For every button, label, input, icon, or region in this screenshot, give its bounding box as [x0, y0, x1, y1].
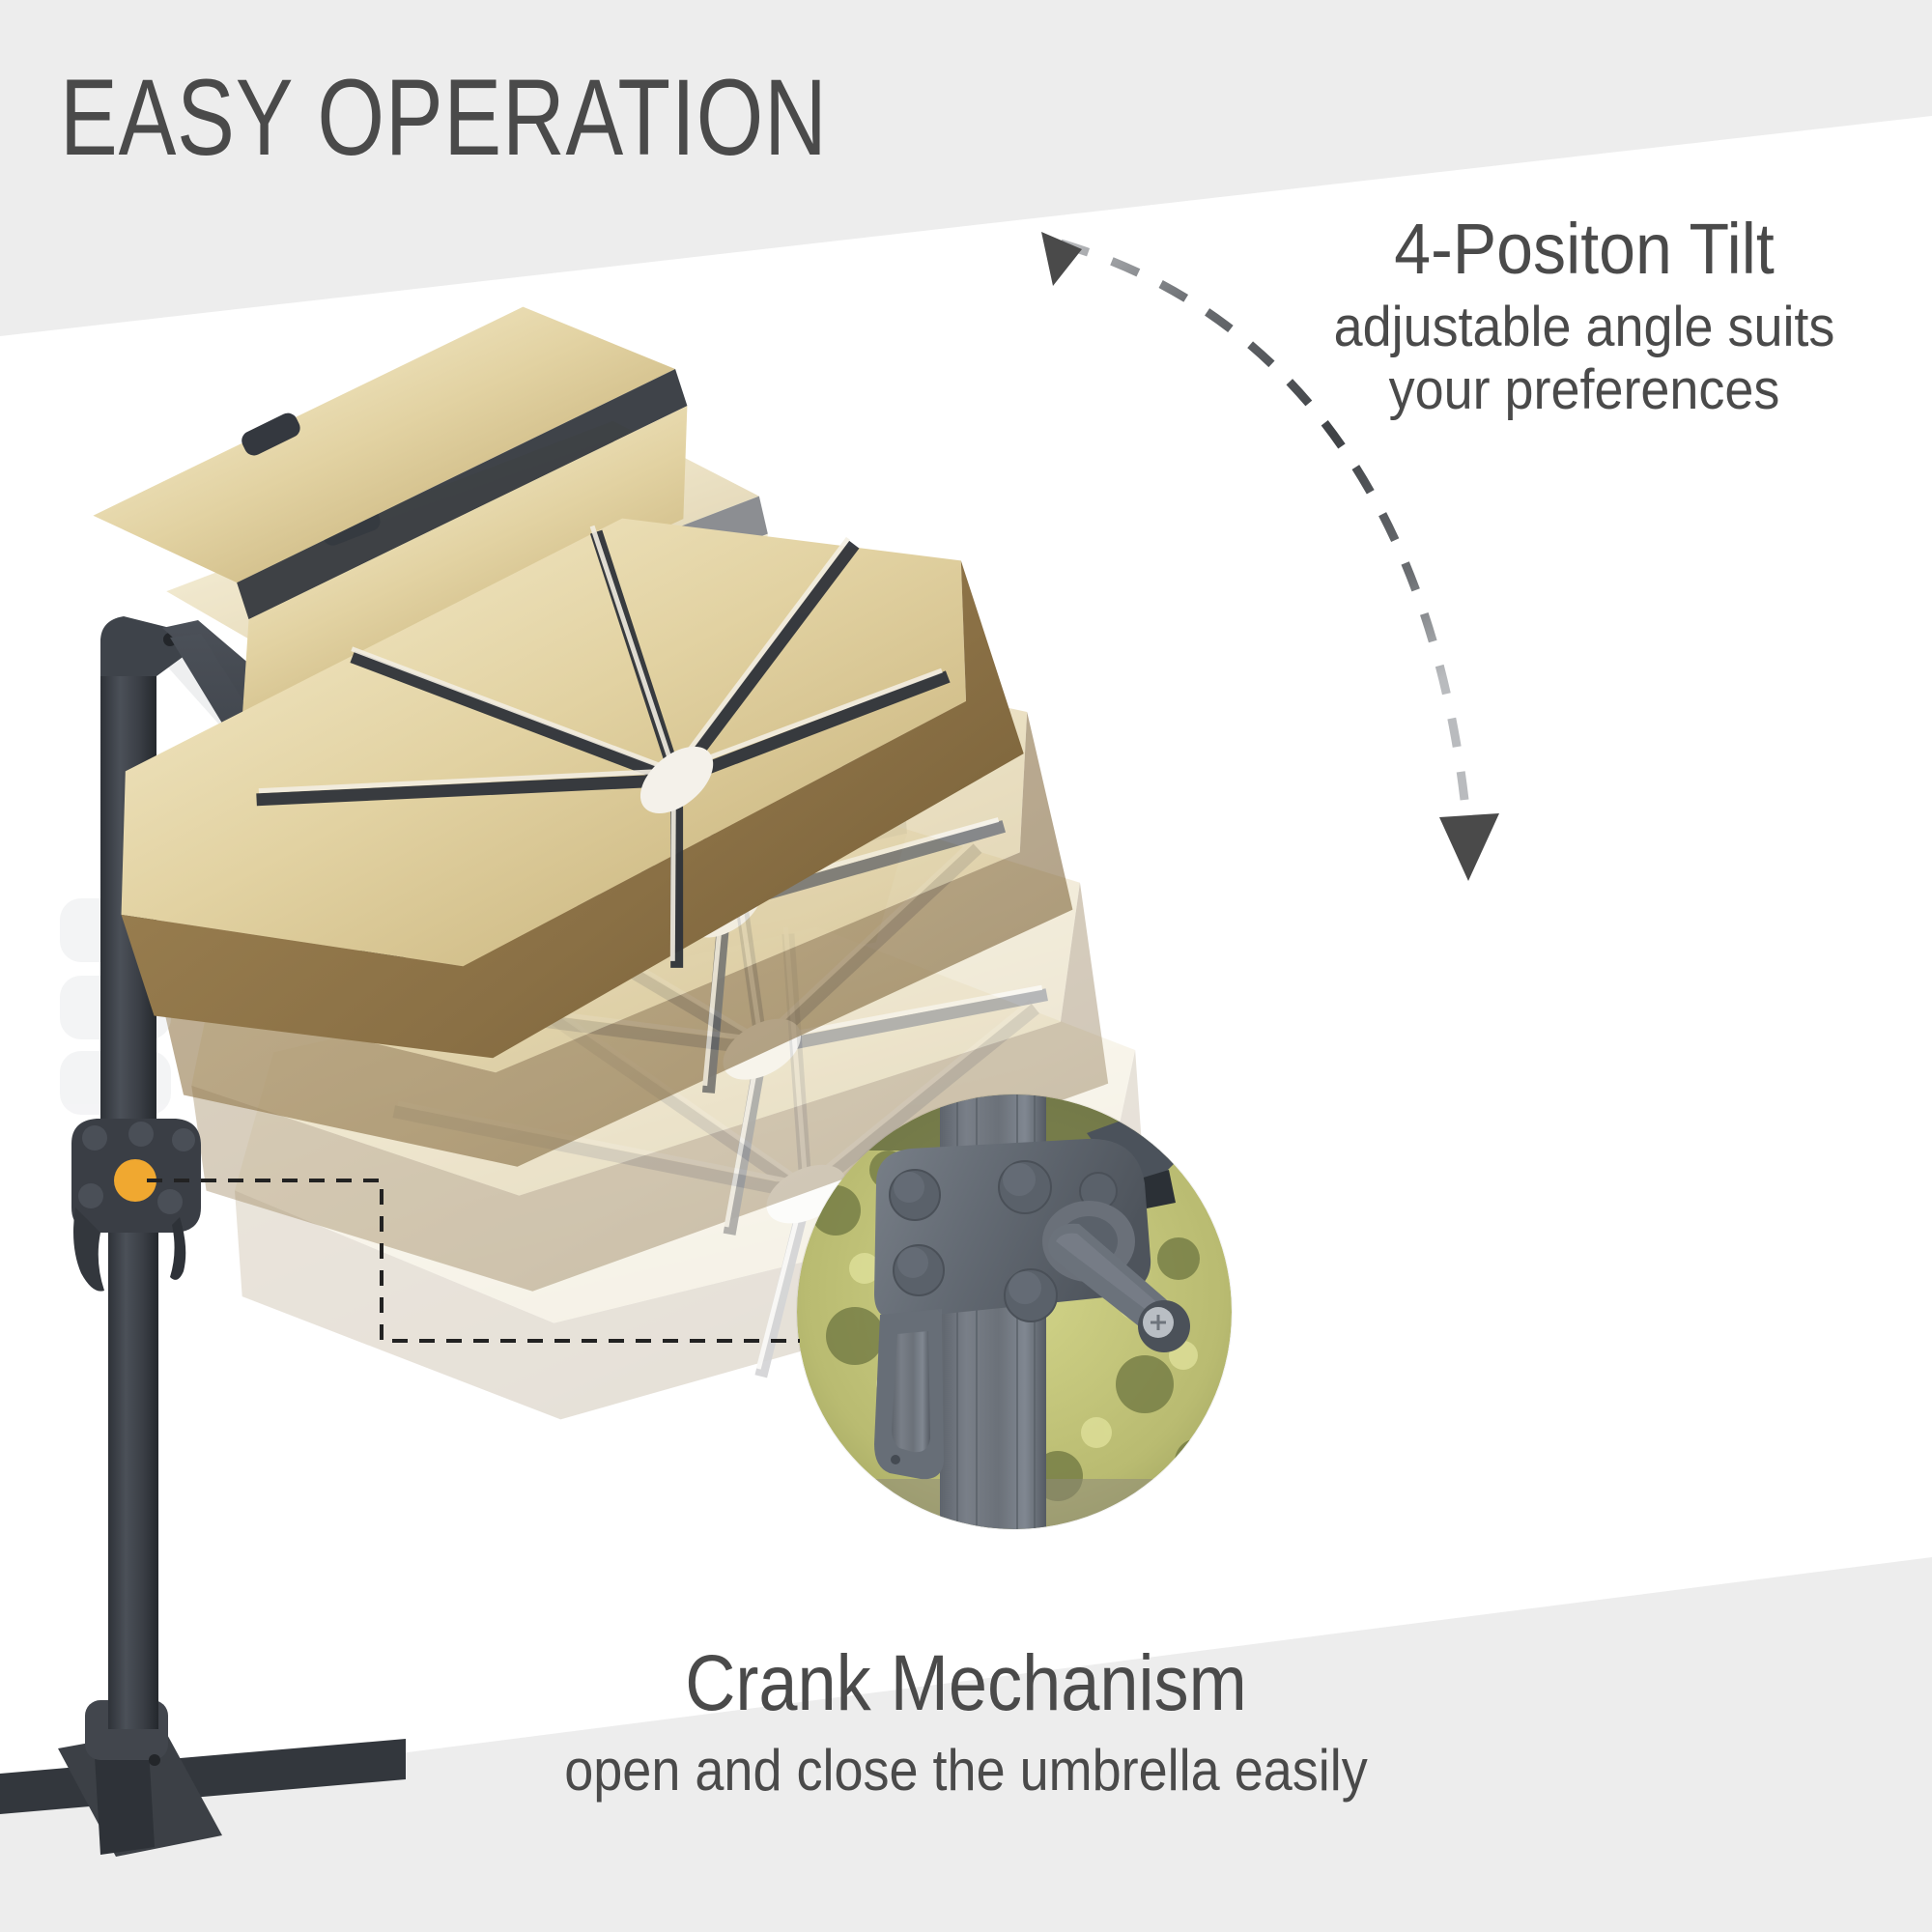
infographic-canvas: EASY OPERATION	[0, 0, 1932, 1932]
crank-callout: Crank Mechanism open and close the umbre…	[290, 1642, 1642, 1803]
crank-callout-title: Crank Mechanism	[371, 1642, 1561, 1725]
tilt-callout: 4-Positon Tilt adjustable angle suits yo…	[1246, 213, 1922, 422]
crank-marker-dot-icon	[114, 1159, 156, 1202]
tilt-callout-subtitle-line2: your preferences	[1270, 359, 1899, 422]
crank-detail-photo	[797, 1094, 1232, 1529]
tilt-callout-subtitle: adjustable angle suits your preferences	[1270, 297, 1899, 422]
tilt-callout-subtitle-line1: adjustable angle suits	[1270, 297, 1899, 359]
crank-callout-subtitle: open and close the umbrella easily	[357, 1739, 1575, 1803]
tilt-callout-title: 4-Positon Tilt	[1273, 213, 1895, 287]
